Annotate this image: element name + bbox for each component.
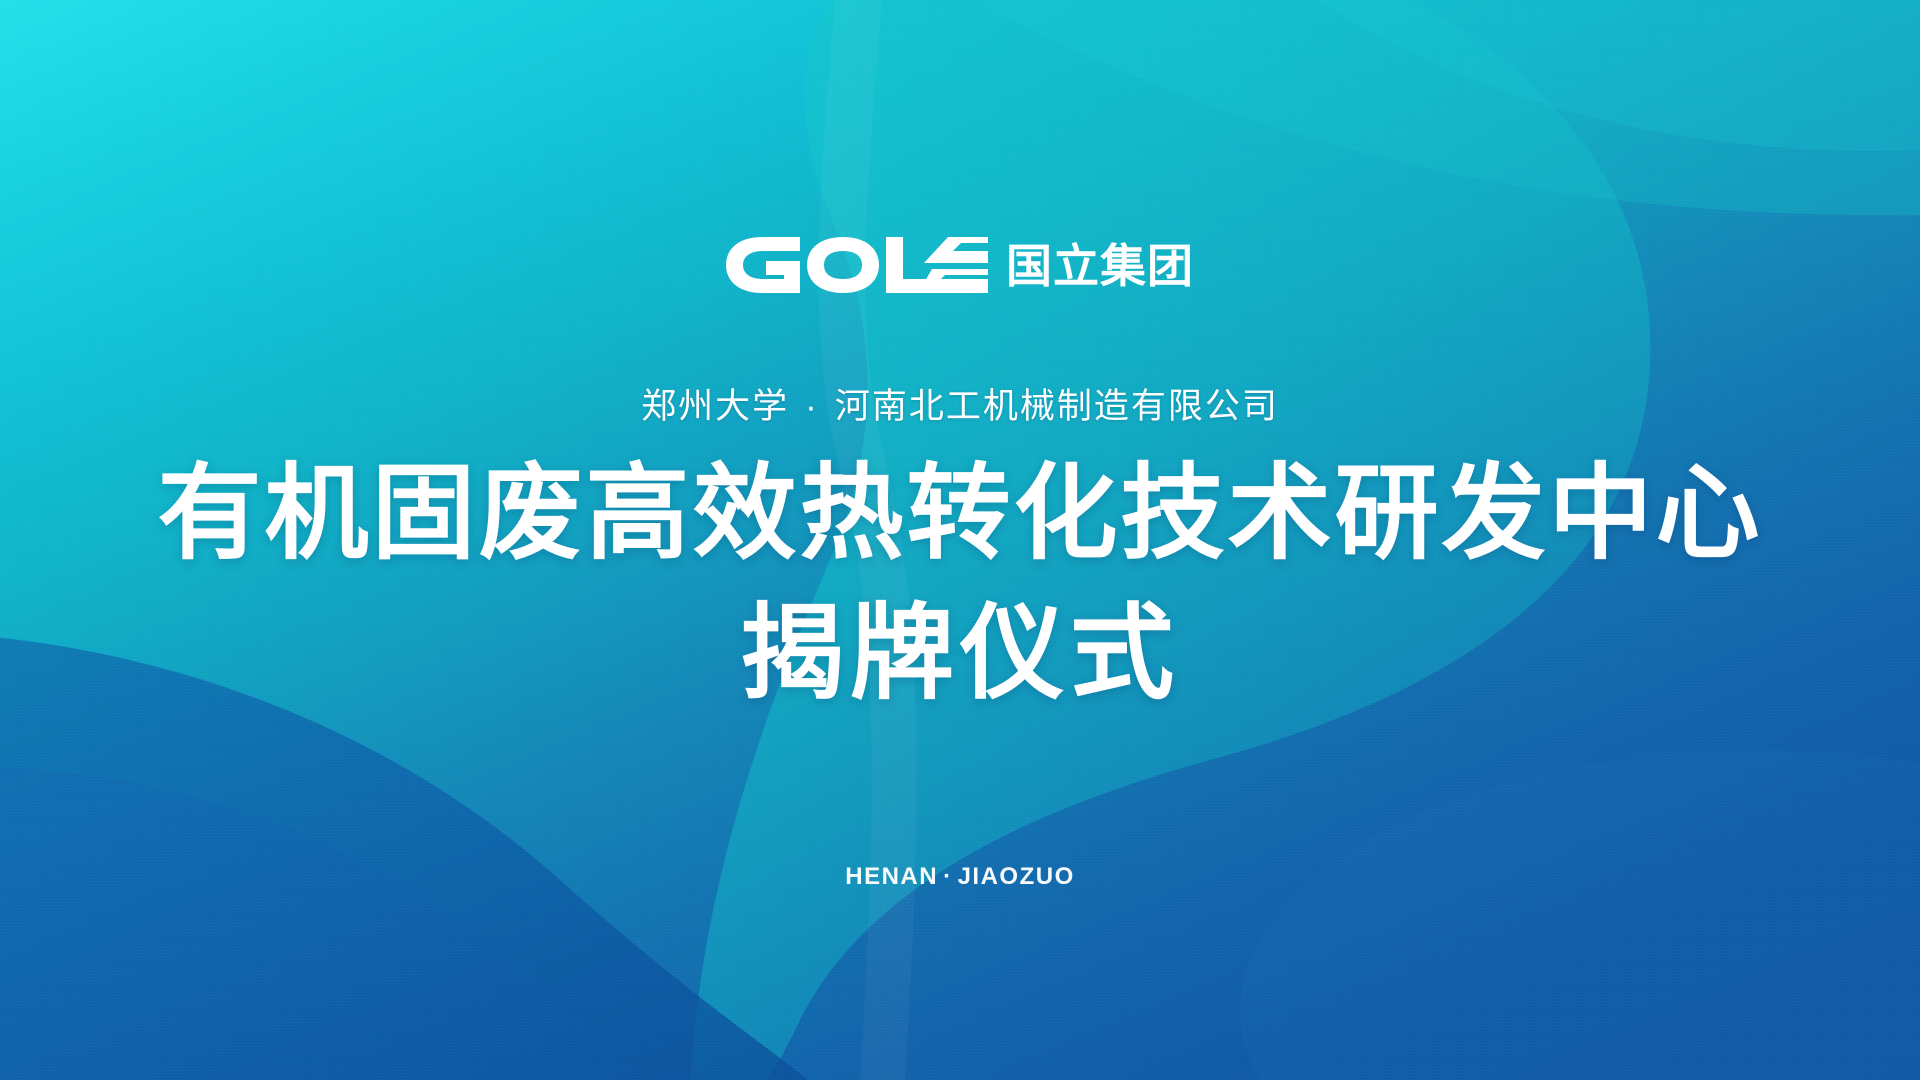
footer-separator: · bbox=[938, 863, 958, 890]
event-banner-slide: 国立集团 郑州大学·河南北工机械制造有限公司 有机固废高效热转化技术研发中心 揭… bbox=[0, 0, 1920, 1080]
partners-subtitle: 郑州大学·河南北工机械制造有限公司 bbox=[0, 384, 1920, 430]
event-title-line-1: 有机固废高效热转化技术研发中心 bbox=[0, 455, 1920, 573]
slide-content: 国立集团 郑州大学·河南北工机械制造有限公司 有机固废高效热转化技术研发中心 揭… bbox=[0, 0, 1920, 1080]
brand-logo-chinese-name: 国立集团 bbox=[1006, 243, 1194, 289]
location-footer: HENAN·JIAOZUO bbox=[0, 862, 1920, 892]
subtitle-separator: · bbox=[789, 387, 835, 426]
location-province: HENAN bbox=[845, 863, 938, 890]
partner-company: 河南北工机械制造有限公司 bbox=[835, 387, 1279, 426]
brand-logo: 国立集团 bbox=[0, 236, 1920, 294]
gole-wordmark-icon bbox=[726, 237, 988, 293]
event-title: 有机固废高效热转化技术研发中心 揭牌仪式 bbox=[0, 455, 1920, 713]
event-title-line-2: 揭牌仪式 bbox=[0, 595, 1920, 713]
partner-university: 郑州大学 bbox=[641, 387, 789, 426]
location-city: JIAOZUO bbox=[958, 863, 1075, 890]
